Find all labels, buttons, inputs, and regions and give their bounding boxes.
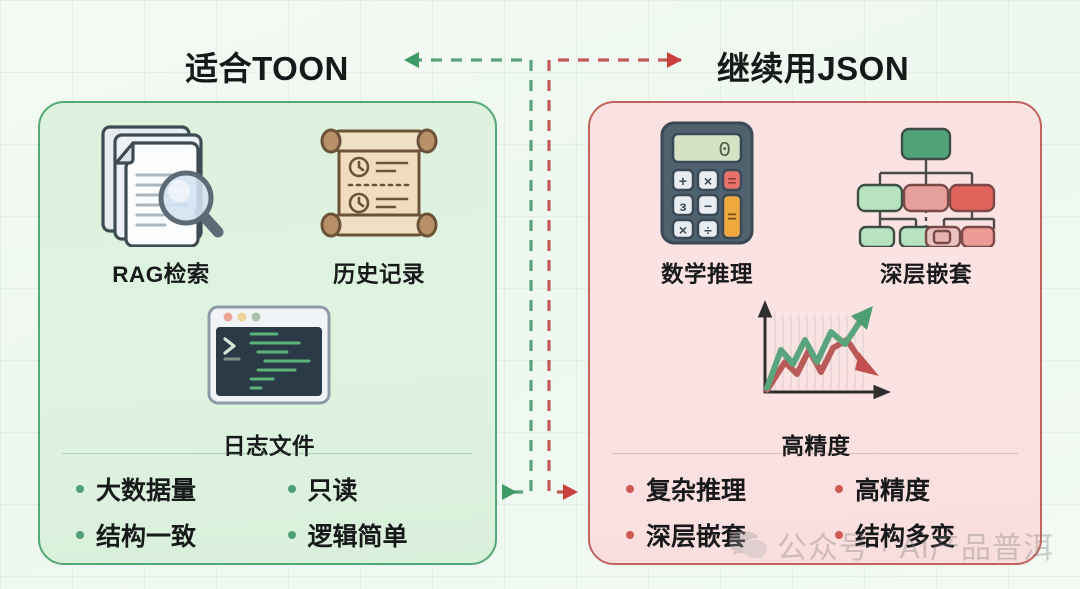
bullet-item: 复杂推理 <box>614 471 819 507</box>
svg-text:×: × <box>679 222 687 238</box>
bullet-dot <box>288 531 296 539</box>
bullet-dot <box>626 531 634 539</box>
card-log-file[interactable]: 日志文件 <box>162 289 376 461</box>
left-panel-title: 适合TOON <box>0 42 534 90</box>
bullet-item: 逻辑简单 <box>276 517 484 553</box>
card-label: 历史记录 <box>272 257 486 289</box>
bullet-dot <box>288 485 296 493</box>
scroll-history-icon <box>272 117 486 249</box>
tree-nesting-icon <box>816 117 1036 249</box>
toon-panel: RAG检索 <box>38 101 497 565</box>
line-chart-icon <box>706 289 926 421</box>
svg-text:0: 0 <box>718 140 731 163</box>
bullet-dot <box>835 485 843 493</box>
bullet-label: 结构一致 <box>96 517 196 553</box>
json-card-grid: 0 + × <box>590 111 1040 451</box>
svg-text:=: = <box>728 173 737 190</box>
bullet-item: 只读 <box>276 471 484 507</box>
card-label: 日志文件 <box>162 429 376 461</box>
wechat-icon <box>728 528 768 562</box>
svg-text:×: × <box>704 173 712 189</box>
infographic-canvas: 适合TOON 继续用JSON <box>0 0 1080 589</box>
card-history-record[interactable]: 历史记录 <box>272 117 486 289</box>
watermark: 公众号 · AI产品普洱 <box>728 523 1054 567</box>
card-label: 深层嵌套 <box>816 257 1036 289</box>
card-label: 高精度 <box>706 429 926 461</box>
bullet-dot <box>76 531 84 539</box>
card-label: 数学推理 <box>598 257 816 289</box>
bullet-dot <box>76 485 84 493</box>
json-panel: 0 + × <box>588 101 1042 565</box>
card-high-precision[interactable]: 高精度 <box>706 289 926 461</box>
watermark-text: 公众号 · AI产品普洱 <box>777 523 1054 567</box>
bullet-label: 复杂推理 <box>646 471 746 507</box>
bullet-item: 大数据量 <box>64 471 272 507</box>
bullet-label: 逻辑简单 <box>308 517 408 553</box>
right-panel-title: 继续用JSON <box>546 42 1080 90</box>
bullet-item: 高精度 <box>823 471 1028 507</box>
toon-divider <box>62 453 473 454</box>
svg-text:−: − <box>704 198 712 214</box>
card-deep-nesting[interactable]: 深层嵌套 <box>816 117 1036 289</box>
svg-text:з: з <box>680 198 687 214</box>
documents-search-icon <box>52 117 270 249</box>
toon-bullet-list: 大数据量 只读 结构一致 逻辑简单 <box>64 471 483 553</box>
card-label: RAG检索 <box>52 257 270 289</box>
calculator-icon: 0 + × <box>598 117 816 249</box>
toon-card-grid: RAG检索 <box>40 111 495 451</box>
json-divider <box>612 453 1018 454</box>
card-rag-retrieval[interactable]: RAG检索 <box>52 117 270 289</box>
bullet-label: 大数据量 <box>96 471 196 507</box>
bullet-label: 只读 <box>308 471 358 507</box>
terminal-log-icon <box>162 289 376 421</box>
bullet-dot <box>626 485 634 493</box>
bullet-item: 结构一致 <box>64 517 272 553</box>
card-math-reasoning[interactable]: 0 + × <box>598 117 816 289</box>
svg-text:÷: ÷ <box>704 222 712 238</box>
svg-text:=: = <box>727 209 736 226</box>
bullet-label: 高精度 <box>855 471 930 507</box>
svg-text:+: + <box>679 173 687 189</box>
